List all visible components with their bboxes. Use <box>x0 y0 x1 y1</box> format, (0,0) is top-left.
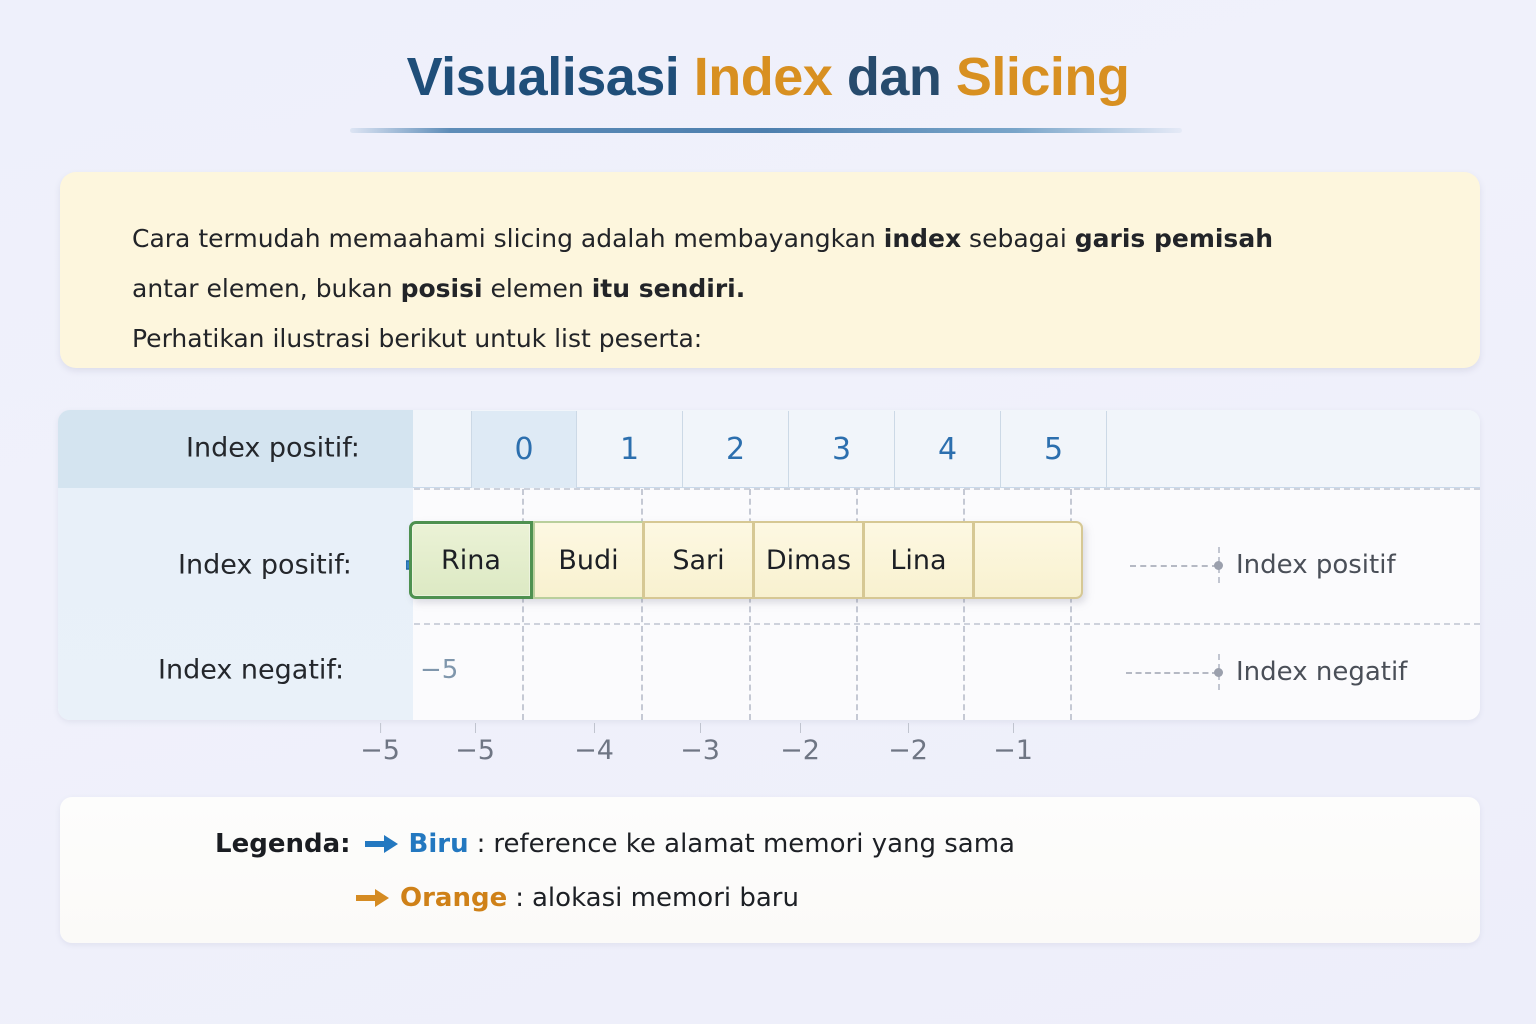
callout-text-2a: antar elemen, bukan <box>132 274 401 303</box>
callout-bold-posisi: posisi <box>401 274 483 303</box>
arrow-right-blue-icon <box>365 834 399 854</box>
connector-label-index-positif: Index positif <box>1236 550 1396 580</box>
title-part-dan: dan <box>832 47 956 107</box>
legend-row-biru: Legenda: Biru : reference ke alamat memo… <box>215 829 1015 859</box>
callout-bold-garis-pemisah: garis pemisah <box>1075 224 1273 253</box>
connector-label-index-negatif: Index negatif <box>1236 657 1407 687</box>
title-underline-divider <box>350 128 1182 133</box>
callout-text-1c: sebagai <box>961 224 1075 253</box>
connector-line-negative <box>1126 672 1218 674</box>
connector-dot-positive <box>1214 561 1223 570</box>
axis-tick-1 <box>475 723 476 733</box>
legend-separator-1: : <box>477 829 486 859</box>
explanation-callout: Cara termudah memaahami slicing adalah m… <box>60 172 1480 368</box>
row-label-index-positif-elements: Index positif: <box>178 550 352 581</box>
page-title: Visualisasi Index dan Slicing <box>0 48 1536 107</box>
title-part-slicing: Slicing <box>956 47 1130 107</box>
callout-text-2c: elemen <box>483 274 592 303</box>
callout-line-2: antar elemen, bukan posisi elemen itu se… <box>132 264 1422 314</box>
callout-text-1a: Cara termudah memaahami slicing adalah m… <box>132 224 884 253</box>
legend-panel: Legenda: Biru : reference ke alamat memo… <box>60 797 1480 943</box>
title-part-index: Index <box>694 47 833 107</box>
negative-axis-value-6: −1 <box>993 735 1033 766</box>
index-header-cell-1: 1 <box>577 411 683 488</box>
row-label-index-negatif: Index negatif: <box>158 655 344 686</box>
element-box-dimas[interactable]: Dimas <box>753 521 863 599</box>
legend-separator-2: : <box>515 883 524 913</box>
legend-key-orange: Orange <box>400 883 507 913</box>
element-box-empty[interactable] <box>973 521 1083 599</box>
legend-description-orange: alokasi memori baru <box>532 883 799 913</box>
legend-description-biru: reference ke alamat memori yang sama <box>493 829 1015 859</box>
negative-axis-value-5: −2 <box>888 735 928 766</box>
element-boxes-row: Rina Budi Sari Dimas Lina <box>409 521 1083 599</box>
title-part-visualisasi: Visualisasi <box>407 47 694 107</box>
negative-axis-value-2: −4 <box>574 735 614 766</box>
negative-axis-value-1: −5 <box>455 735 495 766</box>
positive-index-header-row: 0 1 2 3 4 5 <box>471 411 1107 488</box>
row-label-index-positif-header: Index positif: <box>186 433 360 464</box>
element-box-sari[interactable]: Sari <box>643 521 753 599</box>
axis-tick-5 <box>908 723 909 733</box>
index-header-cell-2: 2 <box>683 411 789 488</box>
axis-tick-2 <box>594 723 595 733</box>
axis-tick-3 <box>700 723 701 733</box>
callout-line-1: Cara termudah memaahami slicing adalah m… <box>132 214 1422 264</box>
negative-axis-value-3: −3 <box>680 735 720 766</box>
element-box-rina[interactable]: Rina <box>409 521 533 599</box>
axis-tick-6 <box>1013 723 1014 733</box>
legend-row-orange: Orange : alokasi memori baru <box>356 883 799 913</box>
axis-tick-4 <box>800 723 801 733</box>
element-box-budi[interactable]: Budi <box>533 521 643 599</box>
diagram-hrule-top <box>414 488 1480 490</box>
negative-index-start-value: −5 <box>420 655 458 685</box>
index-header-cell-0: 0 <box>471 411 577 488</box>
callout-bold-itu-sendiri: itu sendiri. <box>592 274 746 303</box>
callout-line-3: Perhatikan ilustrasi berikut untuk list … <box>132 314 1422 364</box>
index-header-cell-4: 4 <box>895 411 1001 488</box>
negative-axis-value-4: −2 <box>780 735 820 766</box>
connector-dot-negative <box>1214 668 1223 677</box>
negative-axis-value-0: −5 <box>360 735 400 766</box>
diagram-hrule-bottom <box>414 623 1480 625</box>
index-header-cell-3: 3 <box>789 411 895 488</box>
callout-bold-index: index <box>884 224 961 253</box>
negative-index-axis: −5 −5 −4 −3 −2 −2 −1 <box>0 735 1536 795</box>
connector-line-positive <box>1130 565 1218 567</box>
index-header-cell-5: 5 <box>1001 411 1107 488</box>
legend-key-biru: Biru <box>409 829 469 859</box>
element-box-lina[interactable]: Lina <box>863 521 973 599</box>
arrow-right-orange-icon <box>356 888 390 908</box>
legend-title: Legenda: <box>215 829 351 859</box>
